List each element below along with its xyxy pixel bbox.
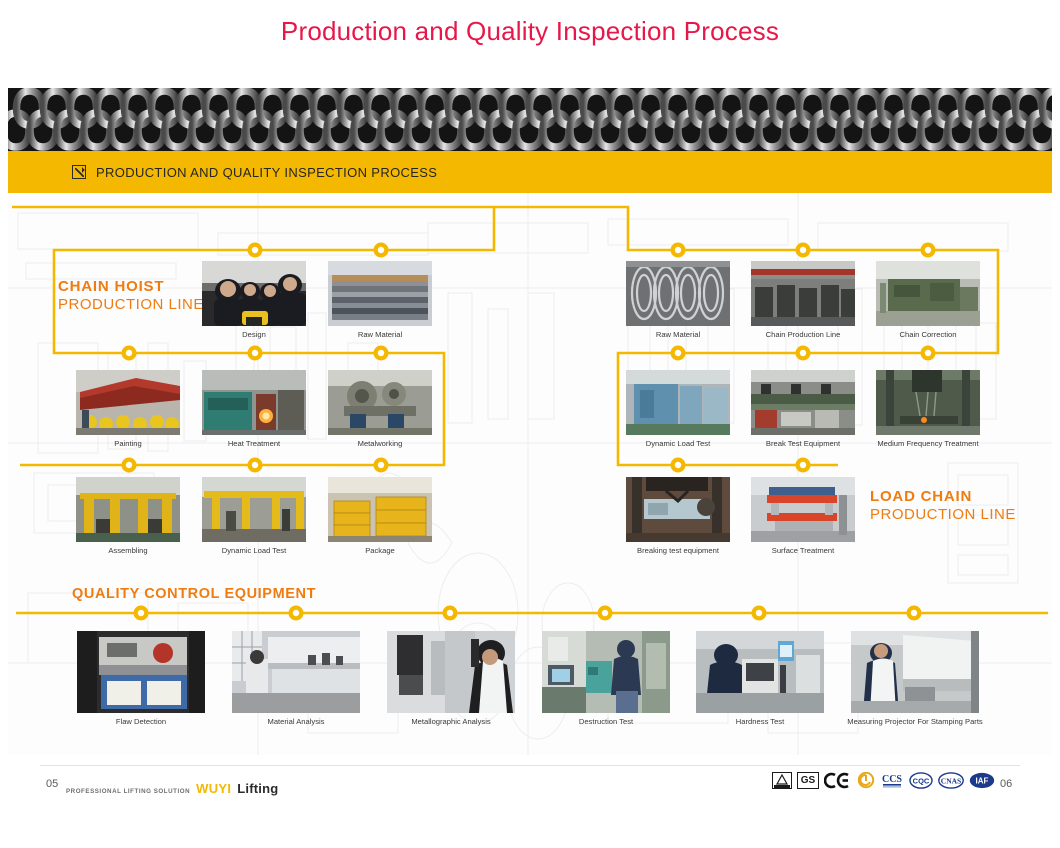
svg-text:CQC: CQC	[913, 776, 930, 785]
svg-text:CNAS: CNAS	[941, 776, 961, 785]
qc-card-flaw-detection[interactable]: Flaw Detection	[77, 631, 205, 713]
page-title: Production and Quality Inspection Proces…	[0, 16, 1060, 47]
process-card-raw-material[interactable]: Raw Material	[328, 261, 432, 326]
brand-name: Lifting	[237, 781, 278, 796]
china-quality-mark-icon	[857, 771, 875, 790]
process-card-chain-production-line[interactable]: Chain Production Line	[751, 261, 855, 326]
process-card-dynamic-load-test[interactable]: Dynamic Load Test	[202, 477, 306, 542]
process-card-breaking-test-equipment[interactable]: Breaking test equipment	[626, 477, 730, 542]
card-caption: Dynamic Load Test	[222, 546, 286, 555]
page-number-right: 06	[1000, 778, 1012, 790]
page-number-left: 05	[46, 778, 58, 790]
chain-hoist-title-line1: CHAIN HOIST	[58, 278, 204, 296]
process-card-package[interactable]: Package	[328, 477, 432, 542]
card-caption: Raw Material	[656, 330, 700, 339]
process-card-chain-correction[interactable]: Chain Correction	[876, 261, 980, 326]
photo-break-test-equipment	[751, 370, 855, 435]
card-caption: Breaking test equipment	[637, 546, 719, 555]
card-caption: Destruction Test	[579, 717, 633, 726]
photo-flaw-detection	[77, 631, 205, 713]
svg-text:CCS: CCS	[882, 774, 902, 785]
card-caption: Chain Production Line	[766, 330, 841, 339]
load-chain-title-line1: LOAD CHAIN	[870, 488, 1016, 506]
square-arrow-icon	[72, 165, 86, 179]
photo-metalworking	[328, 370, 432, 435]
photo-chain-raw-material	[626, 261, 730, 326]
process-card-chain-dynamic-load-test[interactable]: Dynamic Load Test	[626, 370, 730, 435]
quality-control-section-title: QUALITY CONTROL EQUIPMENT	[72, 586, 316, 603]
photo-surface-treatment	[751, 477, 855, 542]
gs-mark-icon: GS	[797, 771, 819, 790]
quality-control-title-text: QUALITY CONTROL EQUIPMENT	[72, 586, 316, 603]
brand-mark: WUYI	[196, 781, 231, 796]
card-caption: Metallographic Analysis	[411, 717, 490, 726]
photo-measuring-projector	[851, 631, 979, 713]
card-caption: Design	[242, 330, 266, 339]
qc-card-measuring-projector[interactable]: Measuring Projector For Stamping Parts	[851, 631, 979, 713]
card-caption: Break Test Equipment	[766, 439, 840, 448]
photo-design	[202, 261, 306, 326]
card-caption: Surface Treatment	[772, 546, 834, 555]
photo-assembling	[76, 477, 180, 542]
photo-dynamic-load-test	[202, 477, 306, 542]
card-caption: Package	[365, 546, 395, 555]
qc-card-hardness-test[interactable]: Hardness Test	[696, 631, 824, 713]
photo-chain-production-line	[751, 261, 855, 326]
photo-medium-frequency-treatment	[876, 370, 980, 435]
process-card-design[interactable]: Design	[202, 261, 306, 326]
load-chain-title-line2: PRODUCTION LINE	[870, 506, 1016, 524]
load-chain-section-title: LOAD CHAIN PRODUCTION LINE	[870, 488, 1016, 523]
photo-heat-treatment	[202, 370, 306, 435]
chain-hoist-section-title: CHAIN HOIST PRODUCTION LINE	[58, 278, 204, 313]
process-card-heat-treatment[interactable]: Heat Treatment	[202, 370, 306, 435]
process-card-surface-treatment[interactable]: Surface Treatment	[751, 477, 855, 542]
cqc-mark-icon: CQC	[909, 771, 933, 790]
process-card-painting[interactable]: Painting	[76, 370, 180, 435]
process-card-chain-raw-material[interactable]: Raw Material	[626, 261, 730, 326]
process-card-assembling[interactable]: Assembling	[76, 477, 180, 542]
photo-metallographic-analysis	[387, 631, 515, 713]
card-caption: Measuring Projector For Stamping Parts	[847, 717, 982, 726]
qc-card-metallographic-analysis[interactable]: Metallographic Analysis	[387, 631, 515, 713]
svg-text:IAF: IAF	[976, 776, 989, 785]
ce-mark-icon	[824, 771, 852, 790]
section-banner-label: PRODUCTION AND QUALITY INSPECTION PROCES…	[96, 165, 437, 180]
chain-hoist-title-line2: PRODUCTION LINE	[58, 296, 204, 314]
card-caption: Hardness Test	[736, 717, 784, 726]
certification-logos: GS CCS CQC CNAS IAF	[772, 769, 995, 791]
photo-chain-dynamic-load-test	[626, 370, 730, 435]
photo-material-analysis	[232, 631, 360, 713]
qc-card-destruction-test[interactable]: Destruction Test	[542, 631, 670, 713]
photo-painting	[76, 370, 180, 435]
process-card-metalworking[interactable]: Metalworking	[328, 370, 432, 435]
card-caption: Painting	[114, 439, 141, 448]
photo-raw-material	[328, 261, 432, 326]
process-card-break-test-equipment[interactable]: Break Test Equipment	[751, 370, 855, 435]
cnas-mark-icon: CNAS	[938, 771, 964, 790]
brand-lockup: PROFESSIONAL LIFTING SOLUTION WUYI Lifti…	[66, 781, 278, 796]
qc-card-material-analysis[interactable]: Material Analysis	[232, 631, 360, 713]
svg-text:GS: GS	[801, 775, 816, 786]
chain-banner-image	[8, 88, 1052, 151]
card-caption: Medium Frequency Treatment	[877, 439, 978, 448]
card-caption: Metalworking	[358, 439, 403, 448]
slide-page: Production and Quality Inspection Proces…	[0, 0, 1060, 848]
card-caption: Raw Material	[358, 330, 402, 339]
card-caption: Flaw Detection	[116, 717, 166, 726]
photo-package	[328, 477, 432, 542]
tuv-mark-icon	[772, 771, 792, 790]
footer-divider	[40, 765, 1020, 766]
photo-chain-correction	[876, 261, 980, 326]
brand-tagline: PROFESSIONAL LIFTING SOLUTION	[66, 788, 190, 795]
photo-breaking-test-equipment	[626, 477, 730, 542]
photo-destruction-test	[542, 631, 670, 713]
card-caption: Assembling	[108, 546, 147, 555]
process-card-medium-frequency-treatment[interactable]: Medium Frequency Treatment	[876, 370, 980, 435]
card-caption: Chain Correction	[900, 330, 957, 339]
card-caption: Heat Treatment	[228, 439, 280, 448]
iaf-mark-icon: IAF	[969, 771, 995, 790]
card-caption: Dynamic Load Test	[646, 439, 710, 448]
ccs-mark-icon: CCS	[880, 771, 904, 790]
photo-hardness-test	[696, 631, 824, 713]
card-caption: Material Analysis	[268, 717, 325, 726]
section-banner: PRODUCTION AND QUALITY INSPECTION PROCES…	[8, 151, 1052, 193]
